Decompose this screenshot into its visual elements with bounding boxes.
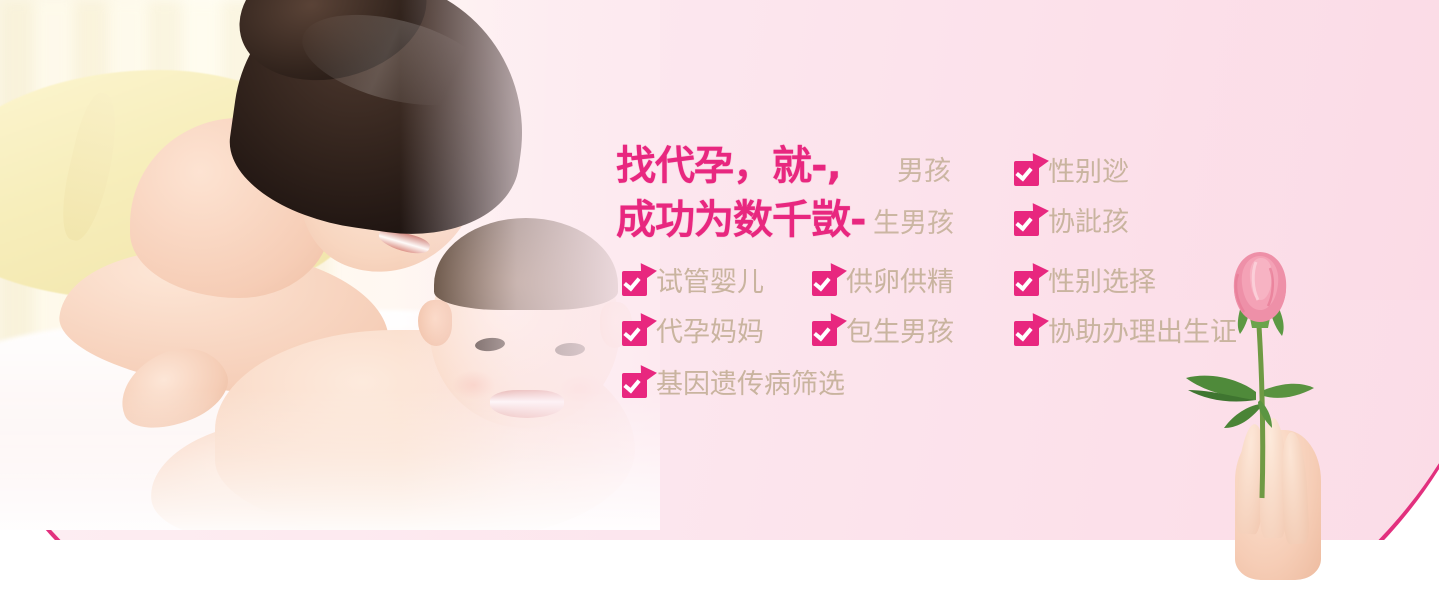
checkbox-checked-icon — [622, 373, 647, 398]
checkbox-checked-icon — [812, 271, 837, 296]
checkbox-checked-icon — [812, 321, 837, 346]
pink-rose-in-hand — [1180, 250, 1380, 550]
ghost-text-line-1: 男孩 — [897, 155, 951, 189]
feature-item-surrogate-mother[interactable]: 代孕妈妈 — [622, 318, 764, 348]
feature-label: 性别逤 — [1048, 158, 1129, 188]
checkbox-checked-icon — [1014, 211, 1039, 236]
checkbox-checked-icon — [1014, 161, 1039, 186]
checkbox-checked-icon — [1014, 321, 1039, 346]
feature-item-ivf[interactable]: 试管婴儿 — [622, 268, 764, 298]
promo-banner: 找代孕，就‐, 成功为数千敳‐ 男孩 生男孩 性别逤 协䚹孩 试管婴儿 供卵供精… — [0, 0, 1439, 600]
rose-icon — [1180, 250, 1380, 550]
checkbox-checked-icon — [622, 271, 647, 296]
feature-item-guaranteed-boy[interactable]: 包生男孩 — [812, 318, 954, 348]
feature-item-genetic-screening[interactable]: 基因遗传病筛选 — [622, 370, 845, 400]
feature-item-gender-selection[interactable]: 性别选择 — [1014, 268, 1156, 298]
feature-label: 协䚹孩 — [1048, 208, 1129, 238]
feature-item-donor[interactable]: 供卵供精 — [812, 268, 954, 298]
headline-line-2: 成功为数千敳‐ — [616, 193, 916, 247]
feature-label: 代孕妈妈 — [656, 318, 764, 348]
feature-label: 试管婴儿 — [656, 268, 764, 298]
headline-line-1: 找代孕，就‐, — [616, 139, 916, 193]
feature-item-assist-top[interactable]: 协䚹孩 — [1014, 208, 1129, 238]
checkbox-checked-icon — [622, 321, 647, 346]
feature-item-gender-top[interactable]: 性别逤 — [1014, 158, 1129, 188]
checkbox-checked-icon — [1014, 271, 1039, 296]
feature-label: 包生男孩 — [846, 318, 954, 348]
ghost-text-line-2: 生男孩 — [873, 207, 954, 241]
feature-label: 供卵供精 — [846, 268, 954, 298]
feature-label: 性别选择 — [1048, 268, 1156, 298]
feature-label: 基因遗传病筛选 — [656, 370, 845, 400]
headline: 找代孕，就‐, 成功为数千敳‐ — [616, 139, 916, 247]
